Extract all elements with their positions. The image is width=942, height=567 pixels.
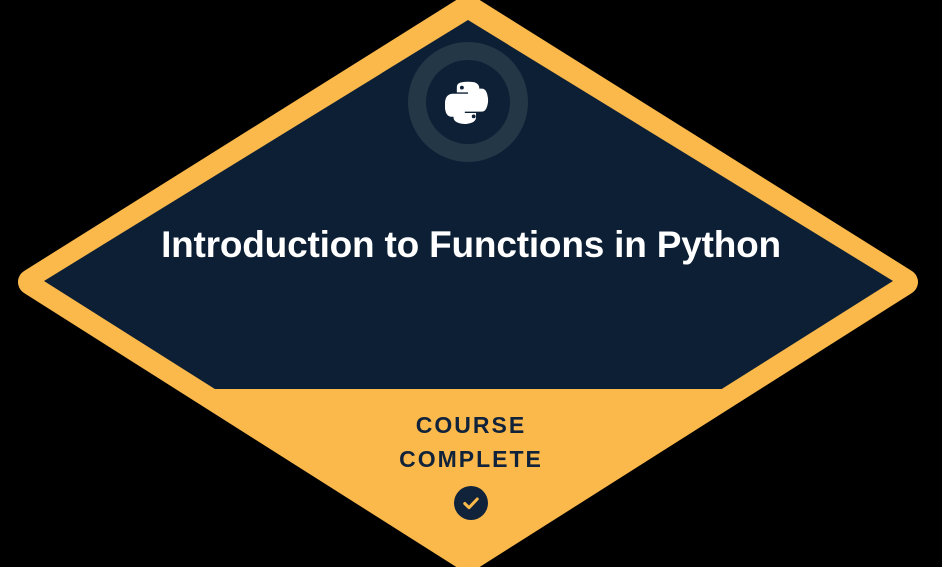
course-logo-medallion (408, 42, 528, 162)
python-logo-icon (445, 79, 491, 125)
status-label-line-1: COURSE (231, 408, 711, 442)
course-status-block: COURSE COMPLETE (231, 408, 711, 520)
course-title: Introduction to Functions in Python (131, 222, 811, 268)
completion-check-badge (454, 486, 488, 520)
status-label-line-2: COMPLETE (231, 442, 711, 476)
check-mark-icon (461, 493, 481, 513)
course-completion-badge: Introduction to Functions in Python COUR… (0, 0, 942, 567)
